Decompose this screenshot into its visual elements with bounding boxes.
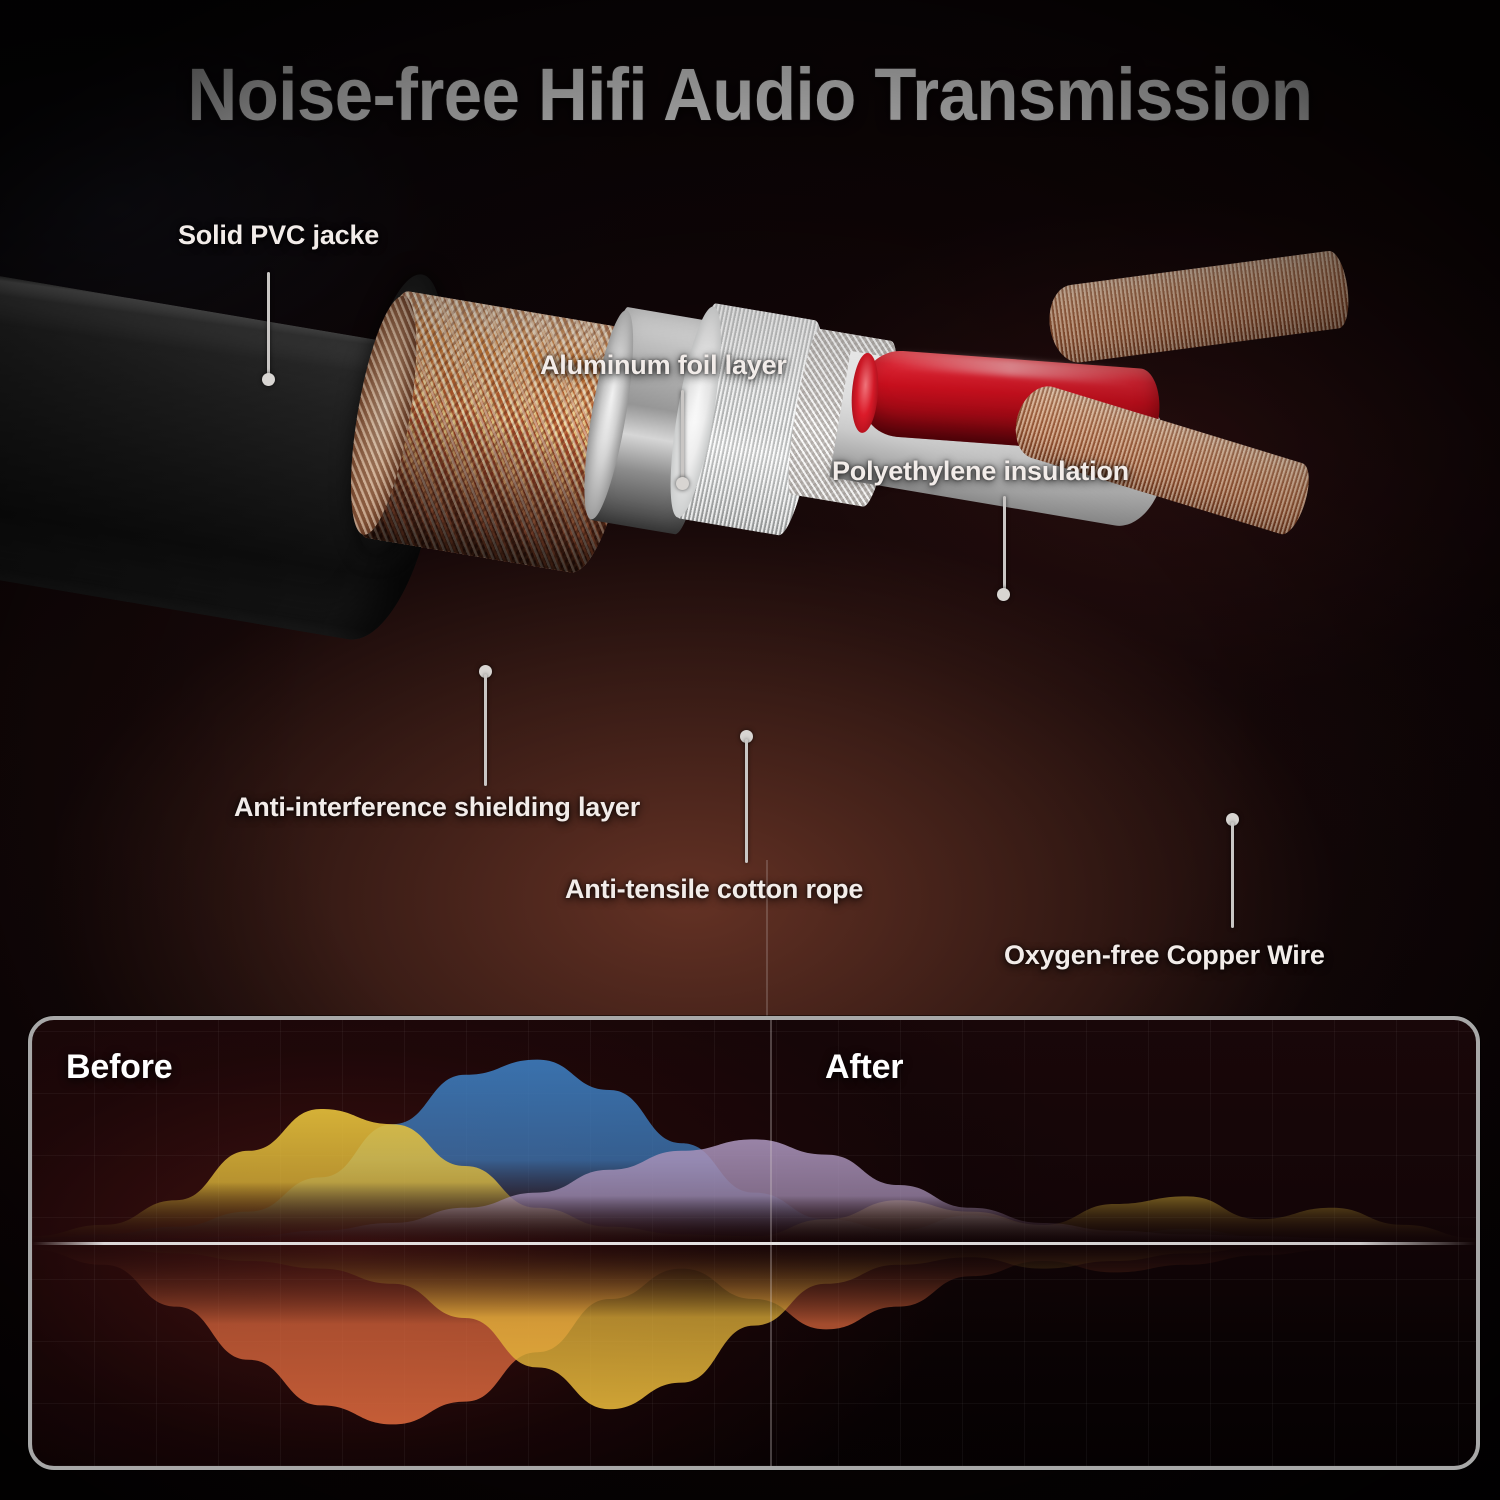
- infographic-canvas: Noise-free Hifi Audio Transmission: [0, 0, 1500, 1500]
- leader-line-pvc-jacket: [267, 272, 270, 377]
- callout-label-shielding-layer: Anti-interference shielding layer: [234, 792, 640, 823]
- callout-label-polyethylene: Polyethylene insulation: [832, 456, 1129, 487]
- before-label: Before: [66, 1048, 173, 1087]
- leader-line-polyethylene: [1003, 496, 1006, 592]
- leader-line-copper-wire: [1231, 822, 1234, 928]
- callout-label-aluminum-foil: Aluminum foil layer: [540, 350, 787, 381]
- waveform-center-axis: [32, 1242, 1476, 1245]
- leader-dot-pvc-jacket: [262, 373, 275, 386]
- panel-divider-extension: [766, 860, 768, 1018]
- before-after-comparison-panel: Before After: [28, 1016, 1480, 1470]
- leader-line-aluminum-foil: [681, 390, 684, 483]
- leader-dot-aluminum-foil: [676, 477, 689, 490]
- callout-label-copper-wire: Oxygen-free Copper Wire: [1004, 940, 1325, 971]
- callout-label-pvc-jacket: Solid PVC jacke: [178, 220, 379, 251]
- leader-dot-polyethylene: [997, 588, 1010, 601]
- leader-line-shielding-layer: [484, 674, 487, 786]
- leader-line-cotton-rope: [745, 739, 748, 863]
- after-label: After: [825, 1048, 903, 1087]
- callout-label-cotton-rope: Anti-tensile cotton rope: [565, 874, 863, 905]
- before-after-divider: [770, 1020, 772, 1466]
